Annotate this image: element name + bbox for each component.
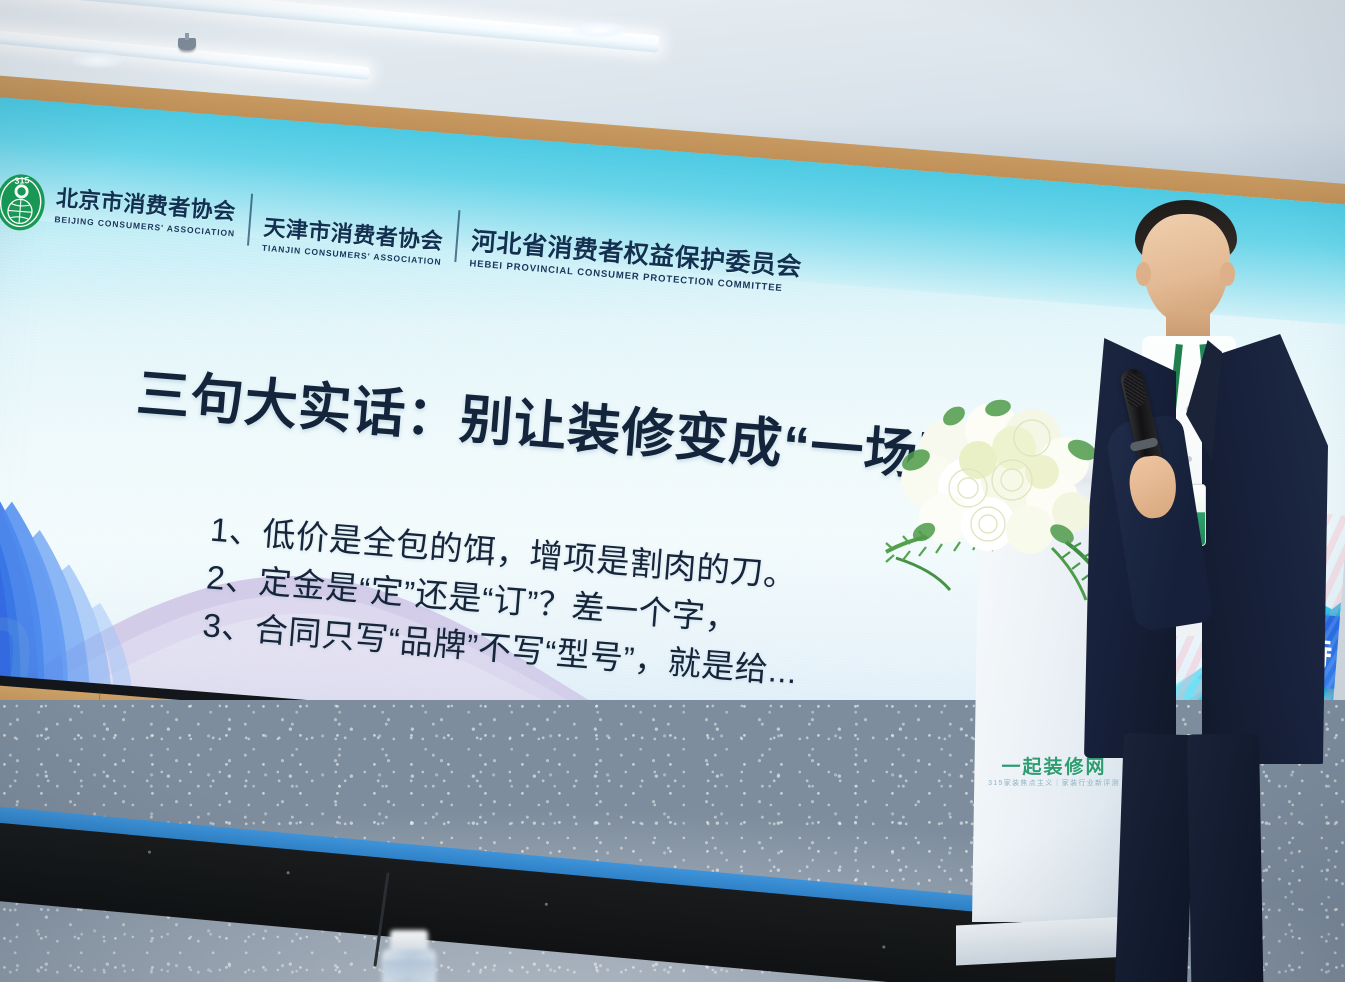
ceiling-lamp-icon: [72, 52, 124, 68]
speaker-head: [1142, 214, 1230, 322]
bottle-label: [384, 960, 434, 978]
bottle-cap: [390, 930, 428, 950]
logo-tianjin: 天津市消费者协会 TIANJIN CONSUMERS' ASSOCIATION: [262, 216, 445, 267]
logo-divider: [247, 194, 253, 246]
logo-hebei: 河北省消费者权益保护委员会 HEBEI PROVINCIAL CONSUMER …: [469, 228, 803, 296]
speaker-person: [1090, 188, 1340, 982]
flower-cluster: [899, 397, 1100, 554]
water-bottle: [378, 930, 440, 982]
315-consumer-emblem-icon: 315: [0, 169, 50, 233]
speaker-legs: [1108, 734, 1298, 982]
speaker-leg: [1187, 733, 1265, 982]
speaker-leg: [1112, 733, 1195, 982]
speaker-ear: [1220, 262, 1235, 286]
ceiling-lamp-icon: [570, 22, 628, 38]
svg-text:315: 315: [14, 175, 30, 186]
logo-beijing: 315 北京市消费者协会 BEIJING CONSUMERS' ASSOCIAT…: [0, 169, 239, 250]
logo-divider: [455, 210, 461, 262]
speaker-ear: [1136, 262, 1151, 286]
conference-stage-scene: 315 北京市消费者协会 BEIJING CONSUMERS' ASSOCIAT…: [0, 0, 1345, 982]
sprinkler-head-icon: [178, 38, 196, 50]
speaker-jacket-right: [1202, 334, 1328, 764]
